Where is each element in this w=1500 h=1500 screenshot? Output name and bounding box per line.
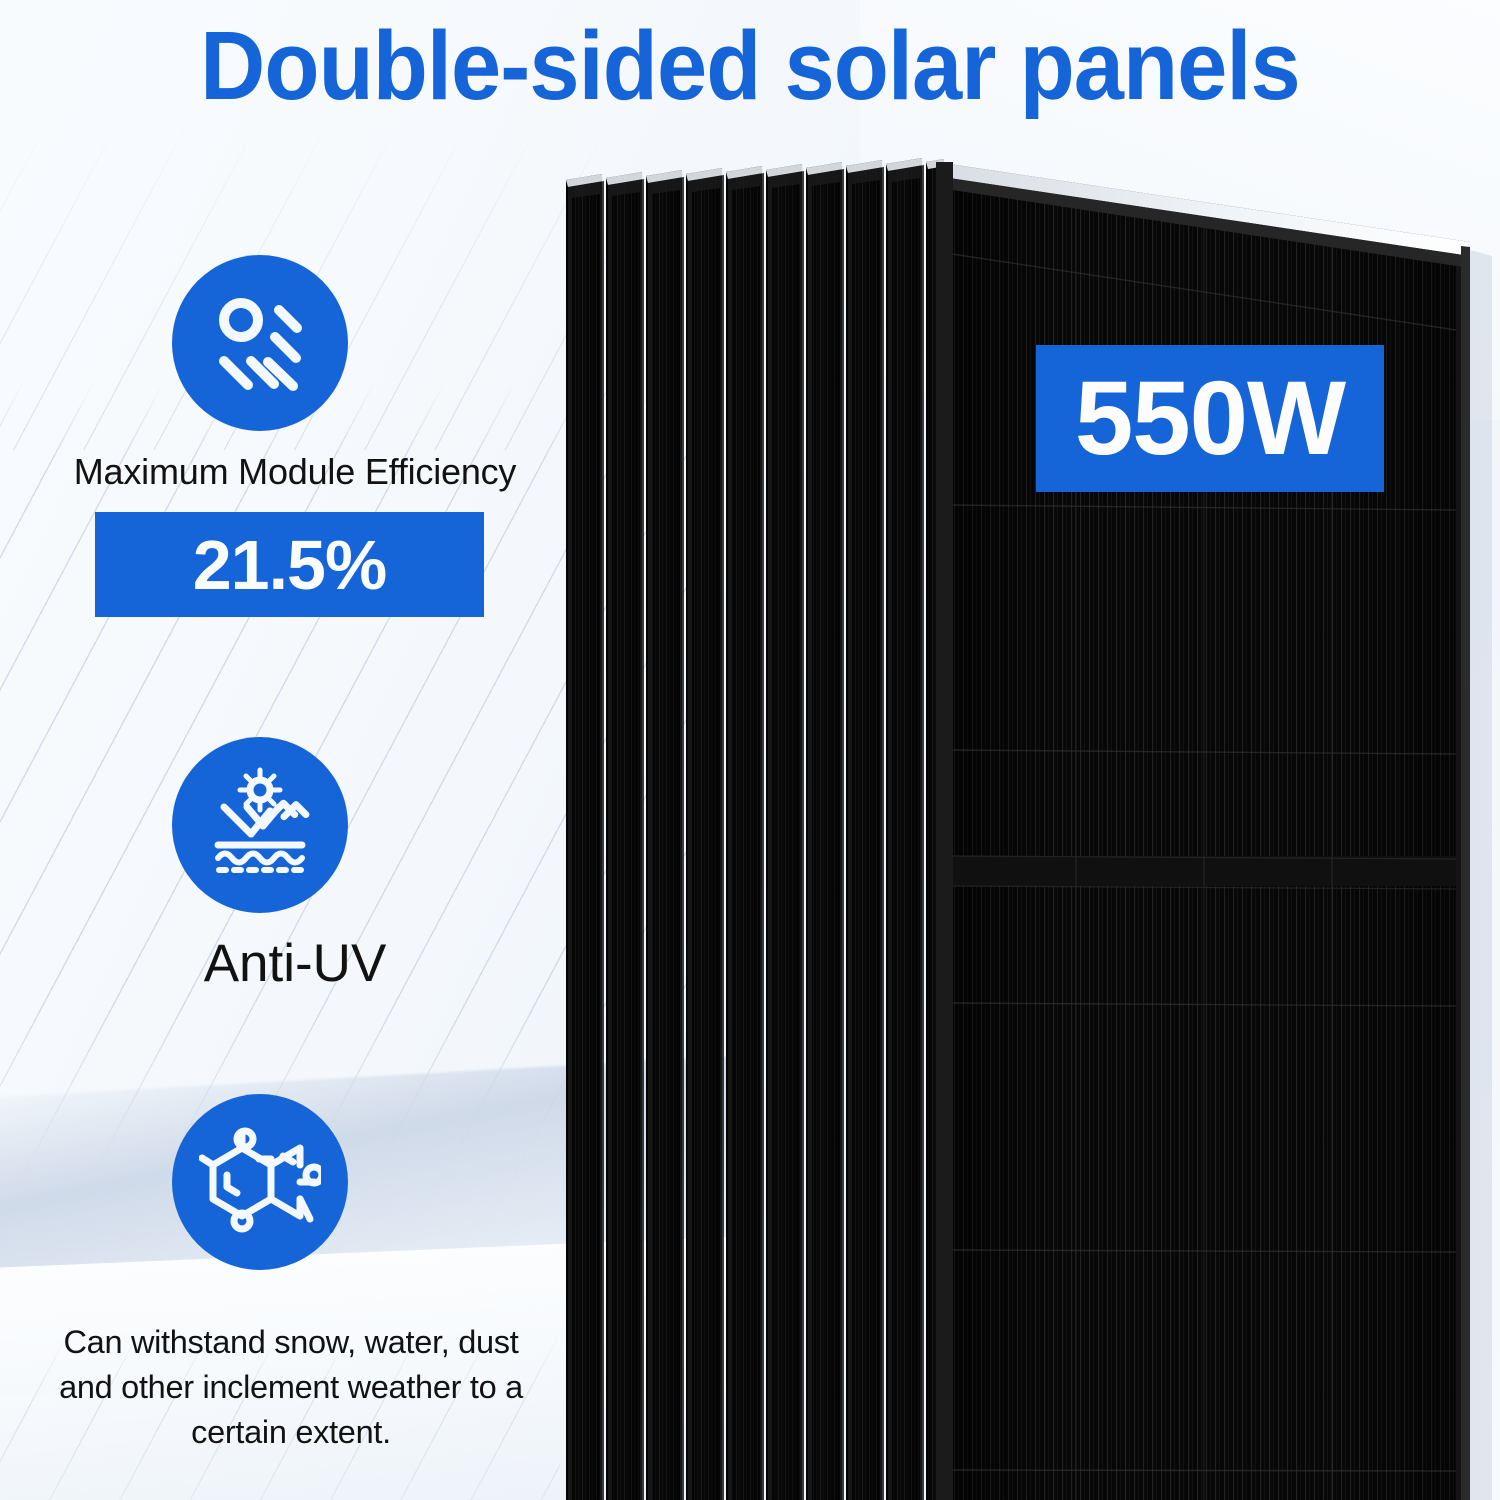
sun-rays-icon	[172, 255, 348, 431]
feature-list: Maximum Module Efficiency 21.5%	[0, 255, 560, 1455]
uv-reflect-icon	[172, 737, 348, 913]
feature-efficiency-label: Maximum Module Efficiency	[0, 451, 560, 493]
panel-edge-group	[566, 158, 946, 1500]
feature-efficiency: Maximum Module Efficiency 21.5%	[0, 255, 560, 617]
wattage-badge: 550W	[1036, 345, 1384, 492]
page-title: Double-sided solar panels	[53, 14, 1448, 119]
efficiency-value: 21.5%	[193, 530, 386, 600]
feature-anti-uv: Anti-UV	[0, 737, 560, 994]
efficiency-value-badge: 21.5%	[95, 512, 484, 617]
feature-anti-uv-label: Anti-UV	[0, 933, 560, 994]
product-marketing-image: Double-sided solar panels	[0, 0, 1500, 1500]
feature-weather-label: Can withstand snow, water, dust and othe…	[0, 1320, 560, 1455]
feature-weather-resistance: Can withstand snow, water, dust and othe…	[0, 1094, 560, 1455]
molecule-icon	[172, 1094, 348, 1270]
wattage-value: 550W	[1075, 366, 1345, 471]
